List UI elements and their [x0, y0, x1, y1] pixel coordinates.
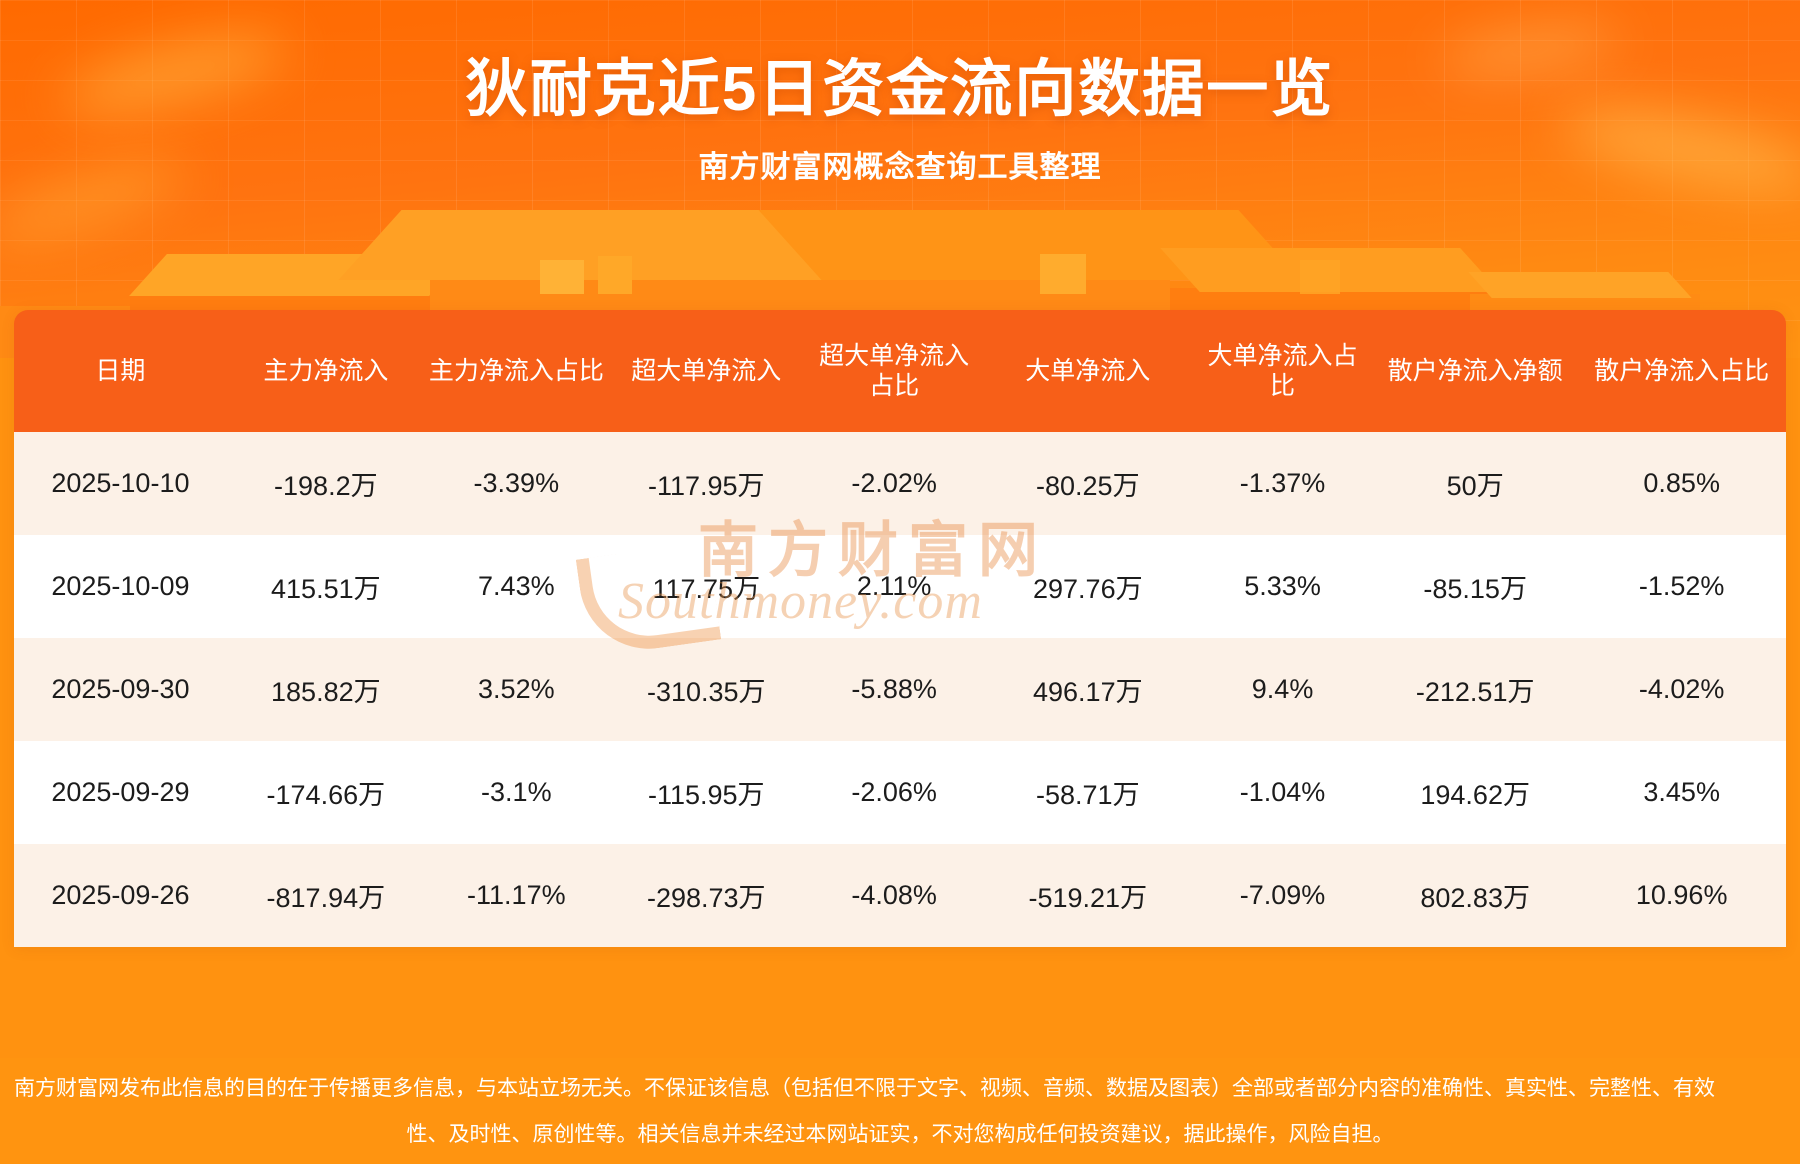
cell-large-net-ratio: -1.37% [1192, 432, 1373, 535]
cell-xl-net-ratio: -4.08% [805, 844, 984, 947]
column-header-retail-net-ratio: 散户净流入占比 [1577, 310, 1786, 432]
page-title: 狄耐克近5日资金流向数据一览 [0, 38, 1800, 128]
cell-large-net-inflow: 496.17万 [984, 638, 1193, 741]
cell-large-net-ratio: -7.09% [1192, 844, 1373, 947]
banner-header: 狄耐克近5日资金流向数据一览 南方财富网概念查询工具整理 [0, 0, 1800, 358]
cell-large-net-inflow: -80.25万 [984, 432, 1193, 535]
column-header-date: 日期 [14, 310, 227, 432]
cell-large-net-ratio: 5.33% [1192, 535, 1373, 638]
cell-retail-net-amount: -212.51万 [1373, 638, 1577, 741]
column-header-xl-net-ratio: 超大单净流入占比 [805, 310, 984, 432]
column-header-main-net-inflow: 主力净流入 [227, 310, 425, 432]
column-header-large-net-inflow: 大单净流入 [984, 310, 1193, 432]
cell-xl-net-inflow: 117.75万 [608, 535, 805, 638]
table-row: 2025-09-26 -817.94万 -11.17% -298.73万 -4.… [14, 844, 1786, 947]
cell-date: 2025-09-26 [14, 844, 227, 947]
cell-large-net-inflow: -58.71万 [984, 741, 1193, 844]
footer-disclaimer: 南方财富网发布此信息的目的在于传播更多信息，与本站立场无关。不保证该信息（包括但… [0, 1058, 1800, 1164]
podium-slab [1468, 272, 1691, 298]
podium-slab [1300, 260, 1340, 294]
cell-retail-net-ratio: 3.45% [1577, 741, 1786, 844]
table-row: 2025-10-09 415.51万 7.43% 117.75万 2.11% 2… [14, 535, 1786, 638]
podium-slab [598, 256, 632, 294]
page-subtitle: 南方财富网概念查询工具整理 [0, 142, 1800, 186]
cell-large-net-inflow: -519.21万 [984, 844, 1193, 947]
cell-main-net-ratio: -11.17% [425, 844, 608, 947]
column-header-main-net-ratio: 主力净流入占比 [425, 310, 608, 432]
infographic-page: 狄耐克近5日资金流向数据一览 南方财富网概念查询工具整理 日期 主力净流入 主力… [0, 0, 1800, 1164]
cell-xl-net-ratio: -2.06% [805, 741, 984, 844]
cell-xl-net-inflow: -115.95万 [608, 741, 805, 844]
cell-retail-net-ratio: 0.85% [1577, 432, 1786, 535]
cell-xl-net-inflow: -310.35万 [608, 638, 805, 741]
cell-date: 2025-09-30 [14, 638, 227, 741]
cell-xl-net-ratio: 2.11% [805, 535, 984, 638]
podium-slab [540, 260, 584, 294]
cell-xl-net-inflow: -117.95万 [608, 432, 805, 535]
cell-retail-net-ratio: 10.96% [1577, 844, 1786, 947]
table-row: 2025-09-30 185.82万 3.52% -310.35万 -5.88%… [14, 638, 1786, 741]
column-header-retail-net-amount: 散户净流入净额 [1373, 310, 1577, 432]
cell-main-net-inflow: -817.94万 [227, 844, 425, 947]
cell-retail-net-amount: 194.62万 [1373, 741, 1577, 844]
cell-main-net-ratio: 3.52% [425, 638, 608, 741]
disclaimer-line-1: 南方财富网发布此信息的目的在于传播更多信息，与本站立场无关。不保证该信息（包括但… [0, 1058, 1800, 1104]
cell-main-net-inflow: -174.66万 [227, 741, 425, 844]
cell-main-net-inflow: -198.2万 [227, 432, 425, 535]
cell-xl-net-ratio: -2.02% [805, 432, 984, 535]
fund-flow-table: 日期 主力净流入 主力净流入占比 超大单净流入 超大单净流入占比 大单净流入 大… [14, 310, 1786, 947]
cell-large-net-inflow: 297.76万 [984, 535, 1193, 638]
disclaimer-line-2: 性、及时性、原创性等。相关信息并未经过本网站证实，不对您构成任何投资建议，据此操… [0, 1104, 1800, 1150]
cell-large-net-ratio: -1.04% [1192, 741, 1373, 844]
cell-date: 2025-10-09 [14, 535, 227, 638]
podium-slab [1040, 254, 1086, 294]
cell-retail-net-amount: -85.15万 [1373, 535, 1577, 638]
data-table-card: 日期 主力净流入 主力净流入占比 超大单净流入 超大单净流入占比 大单净流入 大… [14, 310, 1786, 947]
cell-date: 2025-09-29 [14, 741, 227, 844]
cell-xl-net-ratio: -5.88% [805, 638, 984, 741]
cell-main-net-ratio: -3.39% [425, 432, 608, 535]
cell-large-net-ratio: 9.4% [1192, 638, 1373, 741]
table-row: 2025-10-10 -198.2万 -3.39% -117.95万 -2.02… [14, 432, 1786, 535]
cell-main-net-inflow: 185.82万 [227, 638, 425, 741]
cell-main-net-ratio: -3.1% [425, 741, 608, 844]
cell-retail-net-amount: 50万 [1373, 432, 1577, 535]
cell-xl-net-inflow: -298.73万 [608, 844, 805, 947]
cell-retail-net-ratio: -4.02% [1577, 638, 1786, 741]
table-row: 2025-09-29 -174.66万 -3.1% -115.95万 -2.06… [14, 741, 1786, 844]
column-header-large-net-ratio: 大单净流入占比 [1192, 310, 1373, 432]
table-body: 2025-10-10 -198.2万 -3.39% -117.95万 -2.02… [14, 432, 1786, 947]
column-header-xl-net-inflow: 超大单净流入 [608, 310, 805, 432]
cell-retail-net-ratio: -1.52% [1577, 535, 1786, 638]
table-header-row: 日期 主力净流入 主力净流入占比 超大单净流入 超大单净流入占比 大单净流入 大… [14, 310, 1786, 432]
cell-date: 2025-10-10 [14, 432, 227, 535]
cell-main-net-inflow: 415.51万 [227, 535, 425, 638]
cell-main-net-ratio: 7.43% [425, 535, 608, 638]
cell-retail-net-amount: 802.83万 [1373, 844, 1577, 947]
